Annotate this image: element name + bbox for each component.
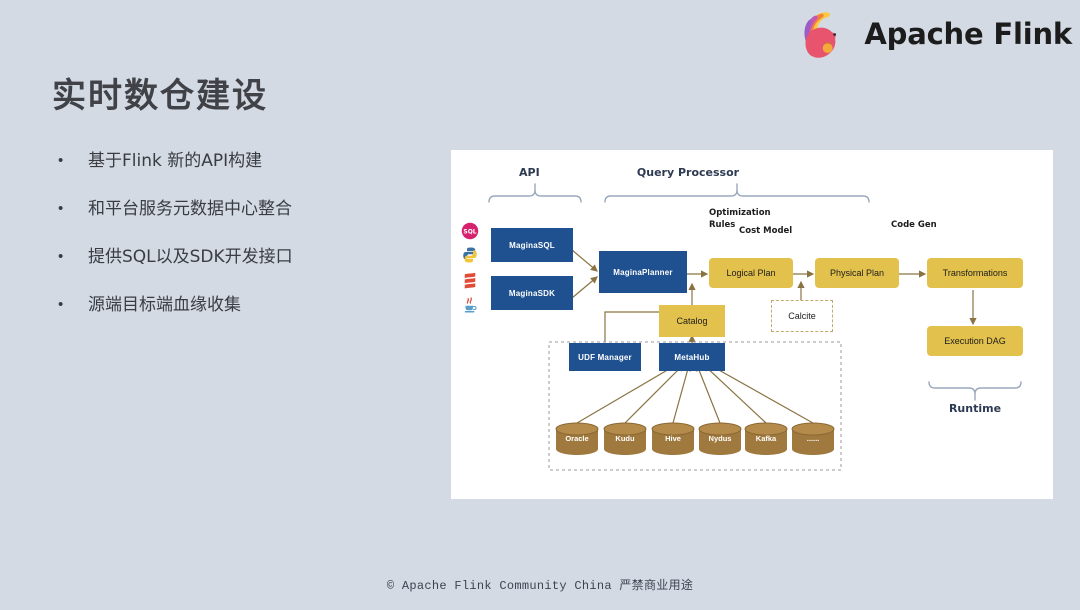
python-icon: [461, 246, 479, 264]
node-label: MaginaSDK: [509, 289, 555, 298]
slide-canvas: Apache Flink 实时数仓建设 • 基于Flink 新的API构建 • …: [0, 0, 1080, 610]
node-transformations[interactable]: Transformations: [927, 258, 1023, 288]
datasource-label: Nydus: [698, 434, 742, 443]
node-label: Calcite: [788, 311, 816, 321]
node-physical-plan[interactable]: Physical Plan: [815, 258, 899, 288]
annotation-optimization-rules-line1: Optimization: [709, 208, 771, 218]
node-metahub[interactable]: MetaHub: [659, 343, 725, 371]
bullet-list: • 基于Flink 新的API构建 • 和平台服务元数据中心整合 • 提供SQL…: [58, 148, 438, 340]
flink-squirrel-logo: [798, 8, 854, 60]
annotation-optimization-rules-line2: Rules: [709, 220, 735, 230]
bullet-marker-icon: •: [58, 196, 72, 222]
footer: © Apache Flink Community China 严禁商业用途: [0, 576, 1080, 593]
diagram-canvas: API Query Processor Runtime Optimization…: [451, 150, 1053, 499]
datasource-more[interactable]: ......: [791, 422, 835, 456]
datasource-oracle[interactable]: Oracle: [555, 422, 599, 456]
node-catalog[interactable]: Catalog: [659, 305, 725, 337]
datasource-kafka[interactable]: Kafka: [744, 422, 788, 456]
datasource-kudu[interactable]: Kudu: [603, 422, 647, 456]
brand-name: Apache Flink: [864, 17, 1072, 51]
page-title: 实时数仓建设: [52, 68, 268, 117]
datasource-nydus[interactable]: Nydus: [698, 422, 742, 456]
bullet-marker-icon: •: [58, 148, 72, 174]
node-udf-manager[interactable]: UDF Manager: [569, 343, 641, 371]
node-magina-sql[interactable]: MaginaSQL: [491, 228, 573, 262]
annotation-code-gen: Code Gen: [891, 220, 937, 230]
footer-copyright: © Apache Flink Community China: [387, 579, 612, 593]
group-label-runtime: Runtime: [949, 402, 1001, 415]
node-magina-sdk[interactable]: MaginaSDK: [491, 276, 573, 310]
node-calcite[interactable]: Calcite: [771, 300, 833, 332]
list-item-label: 提供SQL以及SDK开发接口: [88, 244, 293, 270]
sql-icon: SQL: [461, 222, 479, 240]
node-label: MaginaPlanner: [613, 268, 673, 277]
node-label: UDF Manager: [578, 353, 632, 362]
datasource-label: Oracle: [555, 434, 599, 443]
list-item: • 提供SQL以及SDK开发接口: [58, 244, 438, 270]
list-item-label: 源端目标端血缘收集: [88, 292, 241, 318]
node-label: Transformations: [943, 268, 1008, 278]
scala-icon: [461, 272, 479, 290]
list-item-label: 和平台服务元数据中心整合: [88, 196, 292, 222]
svg-text:SQL: SQL: [463, 228, 476, 235]
datasource-label: Kudu: [603, 434, 647, 443]
list-item-label: 基于Flink 新的API构建: [88, 148, 262, 174]
node-magina-planner[interactable]: MaginaPlanner: [599, 251, 687, 293]
datasource-label: Hive: [651, 434, 695, 443]
brand-lockup: Apache Flink: [798, 8, 1072, 60]
java-icon: [461, 296, 479, 314]
node-label: Execution DAG: [944, 336, 1006, 346]
node-label: Logical Plan: [726, 268, 775, 278]
annotation-cost-model: Cost Model: [739, 226, 792, 236]
datasource-hive[interactable]: Hive: [651, 422, 695, 456]
list-item: • 基于Flink 新的API构建: [58, 148, 438, 174]
bullet-marker-icon: •: [58, 292, 72, 318]
datasource-label: Kafka: [744, 434, 788, 443]
node-logical-plan[interactable]: Logical Plan: [709, 258, 793, 288]
bullet-marker-icon: •: [58, 244, 72, 270]
node-label: Physical Plan: [830, 268, 884, 278]
list-item: • 和平台服务元数据中心整合: [58, 196, 438, 222]
architecture-diagram-panel: API Query Processor Runtime Optimization…: [451, 150, 1053, 499]
group-label-api: API: [519, 166, 540, 179]
group-label-query-processor: Query Processor: [637, 166, 739, 179]
node-label: Catalog: [676, 316, 707, 326]
node-execution-dag[interactable]: Execution DAG: [927, 326, 1023, 356]
node-label: MetaHub: [674, 353, 709, 362]
list-item: • 源端目标端血缘收集: [58, 292, 438, 318]
datasource-label: ......: [791, 434, 835, 443]
footer-notice: 严禁商业用途: [619, 578, 693, 592]
node-label: MaginaSQL: [509, 241, 555, 250]
